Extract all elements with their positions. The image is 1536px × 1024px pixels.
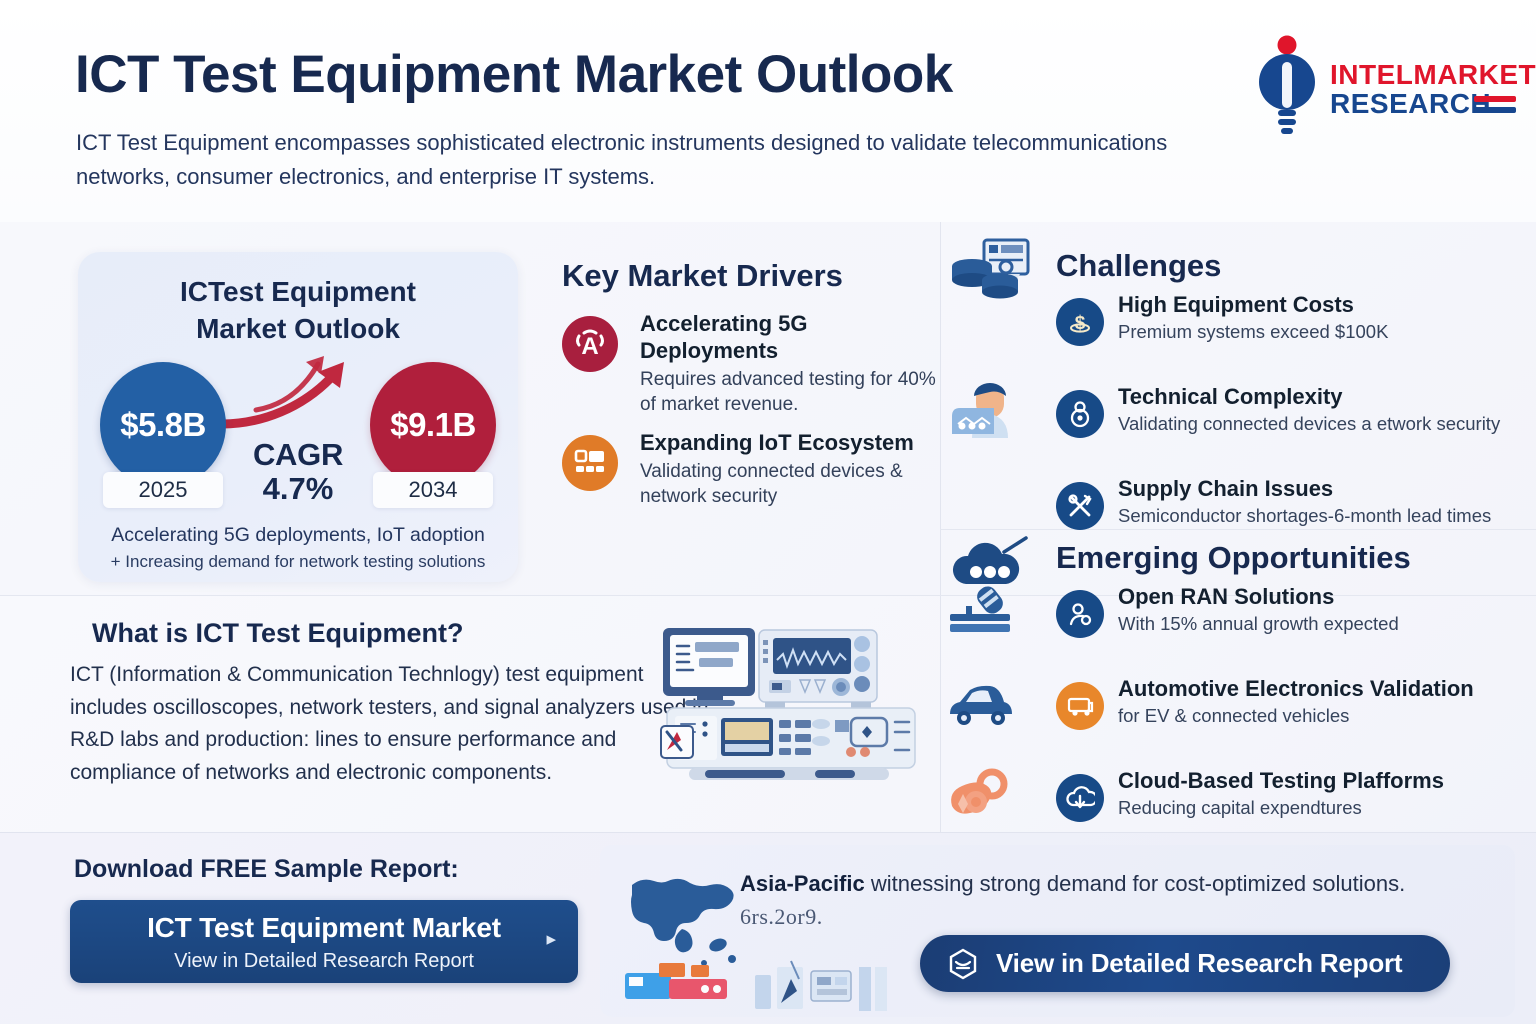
cell-tower-icon: A: [562, 316, 618, 372]
lightbulb-icon: [1256, 34, 1318, 138]
view-report-label: View in Detailed Research Report: [996, 948, 1402, 979]
what-is-body: ICT (Information & Communication Technlo…: [70, 659, 710, 789]
challenge-item: Technical Complexity Validating connecte…: [1056, 384, 1526, 454]
region-artifact-text: 6rs.2or9.: [740, 904, 823, 929]
crossed-tools-icon: [1056, 482, 1104, 530]
driver-title: Expanding IoT Ecosystem: [640, 429, 937, 456]
challenges-section: Challenges $ High Equipment Costs Premiu…: [1056, 248, 1526, 552]
van-icon: [1056, 682, 1104, 730]
challenges-heading-row: Challenges: [1056, 248, 1526, 284]
cloud-download-icon: [1056, 774, 1104, 822]
infographic-page: ICT Test Equipment Market Outlook ICT Te…: [0, 0, 1536, 1024]
stat-note-line-2: + Increasing demand for network testing …: [96, 552, 500, 572]
iot-devices-icon: [562, 435, 618, 491]
view-detailed-report-button[interactable]: View in Detailed Research Report: [920, 935, 1450, 992]
challenge-title: High Equipment Costs: [1118, 292, 1526, 318]
opportunity-title: Open RAN Solutions: [1118, 584, 1526, 610]
car-icon: [944, 672, 1022, 734]
start-year-label: 2025: [103, 472, 223, 508]
challenge-desc: Premium systems exceed $100K: [1118, 320, 1526, 344]
svg-text:A: A: [581, 333, 598, 360]
engineer-icon: [946, 376, 1024, 438]
what-is-section: What is ICT Test Equipment? ICT (Informa…: [70, 618, 710, 789]
emerging-opportunities-section: Emerging Opportunities Ope: [1056, 540, 1526, 844]
chevron-right-icon: ▸: [546, 928, 556, 951]
challenge-desc: Semiconductor shortages-6-month lead tim…: [1118, 504, 1526, 528]
network-node-icon: [1056, 590, 1104, 638]
stat-title-line1: ICTest Equipment: [180, 276, 416, 307]
opportunity-title: Cloud-Based Testing Plafforms: [1118, 768, 1526, 794]
device-strip-icon: [625, 953, 945, 1011]
logo-line-1: INTELMARKET: [1330, 60, 1536, 89]
market-outlook-card: ICTest Equipment Market Outlook $5.8B $9…: [78, 252, 518, 582]
hexagon-badge-icon: [946, 947, 980, 981]
gear-blob-icon: [944, 764, 1022, 826]
driver-title: Accelerating 5G Deployments: [640, 310, 937, 365]
opportunity-item: Automotive Electronics Validation for EV…: [1056, 676, 1526, 746]
opportunity-item: Cloud-Based Testing Plafforms Reducing c…: [1056, 768, 1526, 838]
start-value-circle: $5.8B: [100, 362, 226, 488]
download-label: Download FREE Sample Report:: [74, 855, 459, 884]
cagr-label: CAGR: [233, 437, 363, 473]
challenge-title: Supply Chain Issues: [1118, 476, 1526, 502]
cagr-value: 4.7%: [233, 471, 363, 507]
opportunity-desc: Reducing capital expendtures: [1118, 796, 1526, 820]
download-button-subtitle: View in Detailed Research Report: [70, 950, 578, 973]
header: ICT Test Equipment Market Outlook ICT Te…: [0, 0, 1536, 222]
stat-title-line2: Market Outlook: [196, 313, 400, 344]
gauge-icon: [1056, 390, 1104, 438]
driver-desc: Requires advanced testing for 40% of mar…: [640, 367, 937, 418]
opportunities-heading-row: Emerging Opportunities: [1056, 540, 1526, 576]
opportunity-title: Automotive Electronics Validation: [1118, 676, 1526, 702]
driver-item: Expanding IoT Ecosystem Validating conne…: [562, 429, 937, 509]
end-year-label: 2034: [373, 472, 493, 508]
stat-note-line-1: Accelerating 5G deployments, IoT adoptio…: [96, 524, 500, 547]
region-highlight: Asia-Pacific: [740, 871, 865, 896]
challenge-desc: Validating connected devices a etwork se…: [1118, 412, 1526, 436]
stat-card-title: ICTest Equipment Market Outlook: [78, 274, 518, 348]
challenges-heading: Challenges: [1056, 248, 1526, 284]
lab-test-equipment-illustration: [655, 608, 945, 808]
brand-logo[interactable]: INTELMARKET RESEARCH: [1248, 30, 1518, 140]
regional-text: Asia-Pacific witnessing strong demand fo…: [740, 867, 1440, 933]
challenge-title: Technical Complexity: [1118, 384, 1526, 410]
cagr-block: CAGR 4.7%: [233, 437, 363, 507]
satellite-icon: [946, 578, 1024, 640]
logo-bars-icon: [1474, 96, 1516, 113]
opportunity-item: Open RAN Solutions With 15% annual growt…: [1056, 584, 1526, 654]
challenge-item: Supply Chain Issues Semiconductor shorta…: [1056, 476, 1526, 546]
driver-desc: Validating connected devices & network s…: [640, 459, 937, 510]
opportunities-heading: Emerging Opportunities: [1056, 540, 1526, 576]
opportunity-desc: With 15% annual growth expected: [1118, 612, 1526, 636]
dollar-coin-icon: $: [1056, 298, 1104, 346]
what-is-heading: What is ICT Test Equipment?: [92, 618, 710, 649]
download-button-title: ICT Test Equipment Market: [70, 912, 578, 944]
drivers-heading: Key Market Drivers: [562, 258, 937, 294]
page-subtitle: ICT Test Equipment encompasses sophistic…: [76, 126, 1186, 194]
end-value-circle: $9.1B: [370, 362, 496, 488]
regional-insight-panel: Asia-Pacific witnessing strong demand fo…: [600, 845, 1515, 1017]
region-body: witnessing strong demand for cost-optimi…: [865, 871, 1405, 896]
page-title: ICT Test Equipment Market Outlook: [75, 44, 953, 105]
challenge-item: $ High Equipment Costs Premium systems e…: [1056, 292, 1526, 362]
coins-server-icon: [948, 236, 1036, 308]
key-market-drivers-section: Key Market Drivers A Accelerating 5G Dep…: [562, 258, 937, 514]
opportunity-desc: for EV & connected vehicles: [1118, 704, 1526, 728]
driver-item: A Accelerating 5G Deployments Requires a…: [562, 310, 937, 417]
download-sample-report-button[interactable]: ICT Test Equipment Market View in Detail…: [70, 900, 578, 983]
